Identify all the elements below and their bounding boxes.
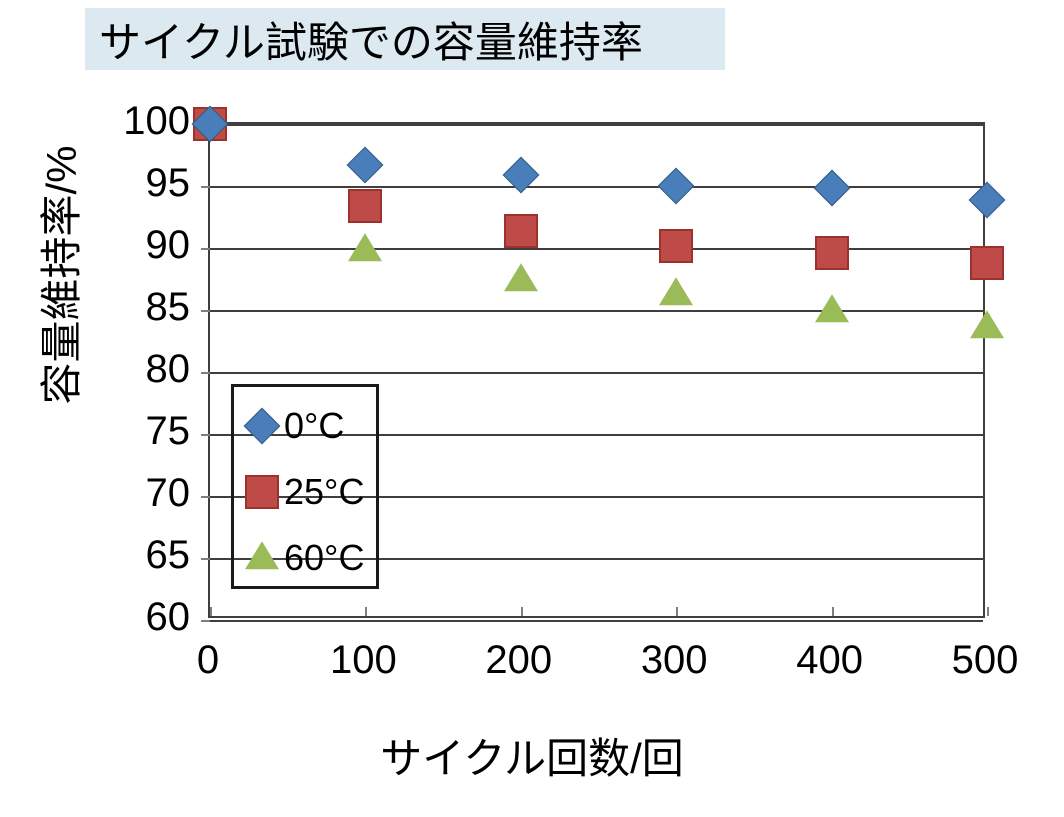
chart-legend: 0°C25°C60°C [231,384,379,589]
x-axis-tick-label: 500 [925,640,1045,680]
x-axis-tick-label: 100 [303,640,423,680]
x-axis-tick-label: 400 [770,640,890,680]
legend-triangle-icon [242,538,282,578]
x-axis-tick-label: 200 [459,640,579,680]
legend-item[interactable]: 0°C [242,393,376,459]
legend-item[interactable]: 25°C [242,459,376,525]
legend-item-label: 25°C [284,474,364,510]
x-axis-tick-labels: 0100200300400500 [0,0,1064,817]
legend-item[interactable]: 60°C [242,525,376,591]
legend-item-label: 0°C [284,408,344,444]
legend-diamond-icon [242,406,282,446]
x-axis-tick-label: 0 [148,640,268,680]
chart-canvas: 1009590858075706560 0100200300400500 0°C… [0,0,1064,817]
legend-square-icon [242,472,282,512]
x-axis-tick-label: 300 [614,640,734,680]
legend-item-label: 60°C [284,540,364,576]
